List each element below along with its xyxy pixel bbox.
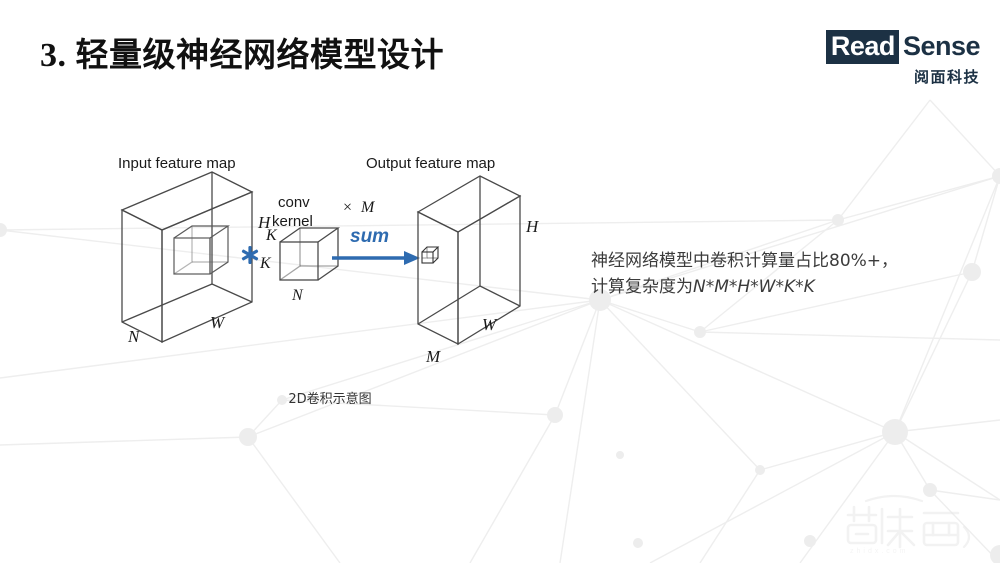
output-feature-map-label: Output feature map	[366, 155, 495, 172]
watermark-domain: zhidx.com	[850, 548, 909, 555]
brand-logo: Read Sense 阅面科技	[796, 30, 982, 87]
diagram-caption: 2D卷积示意图	[230, 388, 430, 407]
logo-wordmark: Read Sense	[826, 30, 982, 64]
page-title-number: 3.	[40, 37, 67, 74]
slide-canvas: 3. 轻量级神经网络模型设计 Read Sense 阅面科技 Input fea…	[0, 0, 1000, 563]
convolution-diagram-svg: Input feature map	[100, 150, 540, 380]
logo-read-text: Read	[826, 30, 899, 64]
output-pixel-cube	[422, 247, 438, 263]
output-width-label: W	[482, 315, 498, 334]
input-width-label: W	[210, 313, 226, 332]
complexity-formula: N*M*H*W*K*K	[693, 277, 815, 297]
multiplier-label: × M	[343, 199, 376, 216]
conv-kernel-cube	[280, 228, 338, 280]
logo-subtitle: 阅面科技	[796, 66, 982, 87]
input-feature-map-label: Input feature map	[118, 155, 236, 172]
convolution-diagram: Input feature map	[100, 150, 540, 380]
convolution-operator-icon	[241, 246, 258, 264]
output-depth-label: M	[425, 347, 441, 366]
sum-label: sum	[350, 226, 389, 247]
watermark-zhidx: zhidx.com	[836, 493, 986, 555]
page-title-text: 轻量级神经网络模型设计	[76, 35, 445, 74]
output-height-label: H	[525, 217, 540, 236]
input-feature-map-shape	[122, 172, 252, 342]
kernel-n-label: N	[291, 287, 304, 304]
body-text-line-2: 计算复杂度为N*M*H*W*K*K	[591, 274, 991, 300]
logo-sense-text: Sense	[899, 30, 982, 64]
body-text-line-2-prefix: 计算复杂度为	[591, 277, 693, 297]
receptive-field-cube	[174, 226, 228, 274]
kernel-k-top-label: K	[265, 227, 278, 244]
conv-kernel-label-line1: conv	[278, 194, 310, 211]
body-text-line-1: 神经网络模型中卷积计算量占比80%+，	[591, 248, 991, 274]
page-title: 3. 轻量级神经网络模型设计	[40, 28, 444, 76]
sum-arrow-icon	[332, 251, 420, 265]
input-depth-label: N	[127, 327, 141, 346]
kernel-k-left-label: K	[259, 255, 272, 272]
body-text-block: 神经网络模型中卷积计算量占比80%+， 计算复杂度为N*M*H*W*K*K	[591, 248, 991, 301]
